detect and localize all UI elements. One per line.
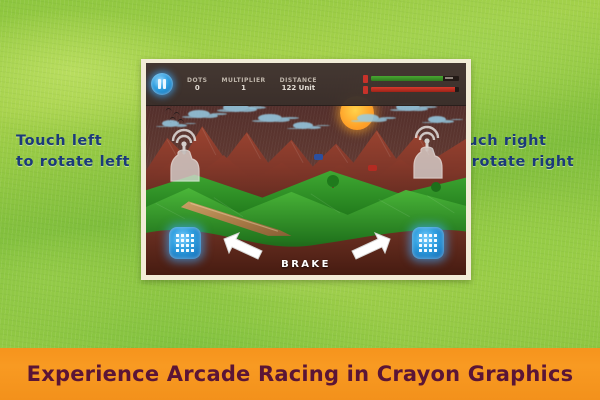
stat-distance-label: DISTANCE: [280, 77, 317, 84]
stat-multiplier-value: 1: [222, 84, 266, 92]
hand-tap-icon[interactable]: [163, 119, 205, 185]
boost-gauge-fill: [371, 76, 443, 81]
stat-distance: DISTANCE 122 Unit: [280, 77, 317, 92]
bottom-banner: Experience Arcade Racing in Crayon Graph…: [0, 348, 600, 400]
banner-tagline: Experience Arcade Racing in Crayon Graph…: [27, 362, 574, 386]
game-screenshot-frame: DOTS 0 MULTIPLIER 1 DISTANCE 122 Unit: [141, 59, 471, 280]
pause-button[interactable]: [151, 73, 173, 95]
brake-button-left[interactable]: [169, 227, 201, 259]
health-icon: [363, 86, 368, 94]
app-screen: Touch left to rotate left Touch right to…: [0, 0, 600, 400]
stat-distance-value: 122 Unit: [280, 84, 317, 92]
game-hud: DOTS 0 MULTIPLIER 1 DISTANCE 122 Unit: [146, 63, 466, 106]
vehicle-marker: [314, 154, 323, 160]
pause-icon-bar: [158, 79, 161, 89]
health-gauge-track: [371, 87, 459, 92]
boost-gauge-track: [371, 76, 459, 81]
stat-dots-value: 0: [187, 84, 208, 92]
health-gauge: [363, 86, 459, 94]
hand-tap-icon[interactable]: [406, 116, 448, 182]
stat-dots: DOTS 0: [187, 77, 208, 92]
stat-multiplier: MULTIPLIER 1: [222, 77, 266, 92]
brake-button-right[interactable]: [412, 227, 444, 259]
brake-label: BRAKE: [146, 259, 466, 270]
pause-icon-bar: [163, 79, 166, 89]
health-gauge-fill: [371, 87, 455, 92]
stat-dots-label: DOTS: [187, 77, 208, 84]
boost-icon: [363, 75, 368, 83]
grid-dots-icon: [419, 234, 437, 252]
game-screen: DOTS 0 MULTIPLIER 1 DISTANCE 122 Unit: [146, 63, 466, 275]
boost-gauge: [363, 75, 459, 83]
arrow-up-left-icon: [222, 231, 266, 261]
grid-dots-icon: [176, 234, 194, 252]
gauge-tick: [445, 77, 453, 79]
gauge-group: [363, 75, 461, 94]
arrow-up-right-icon: [348, 231, 392, 261]
tree: [431, 182, 441, 192]
vehicle-marker: [368, 165, 377, 171]
stat-multiplier-label: MULTIPLIER: [222, 77, 266, 84]
